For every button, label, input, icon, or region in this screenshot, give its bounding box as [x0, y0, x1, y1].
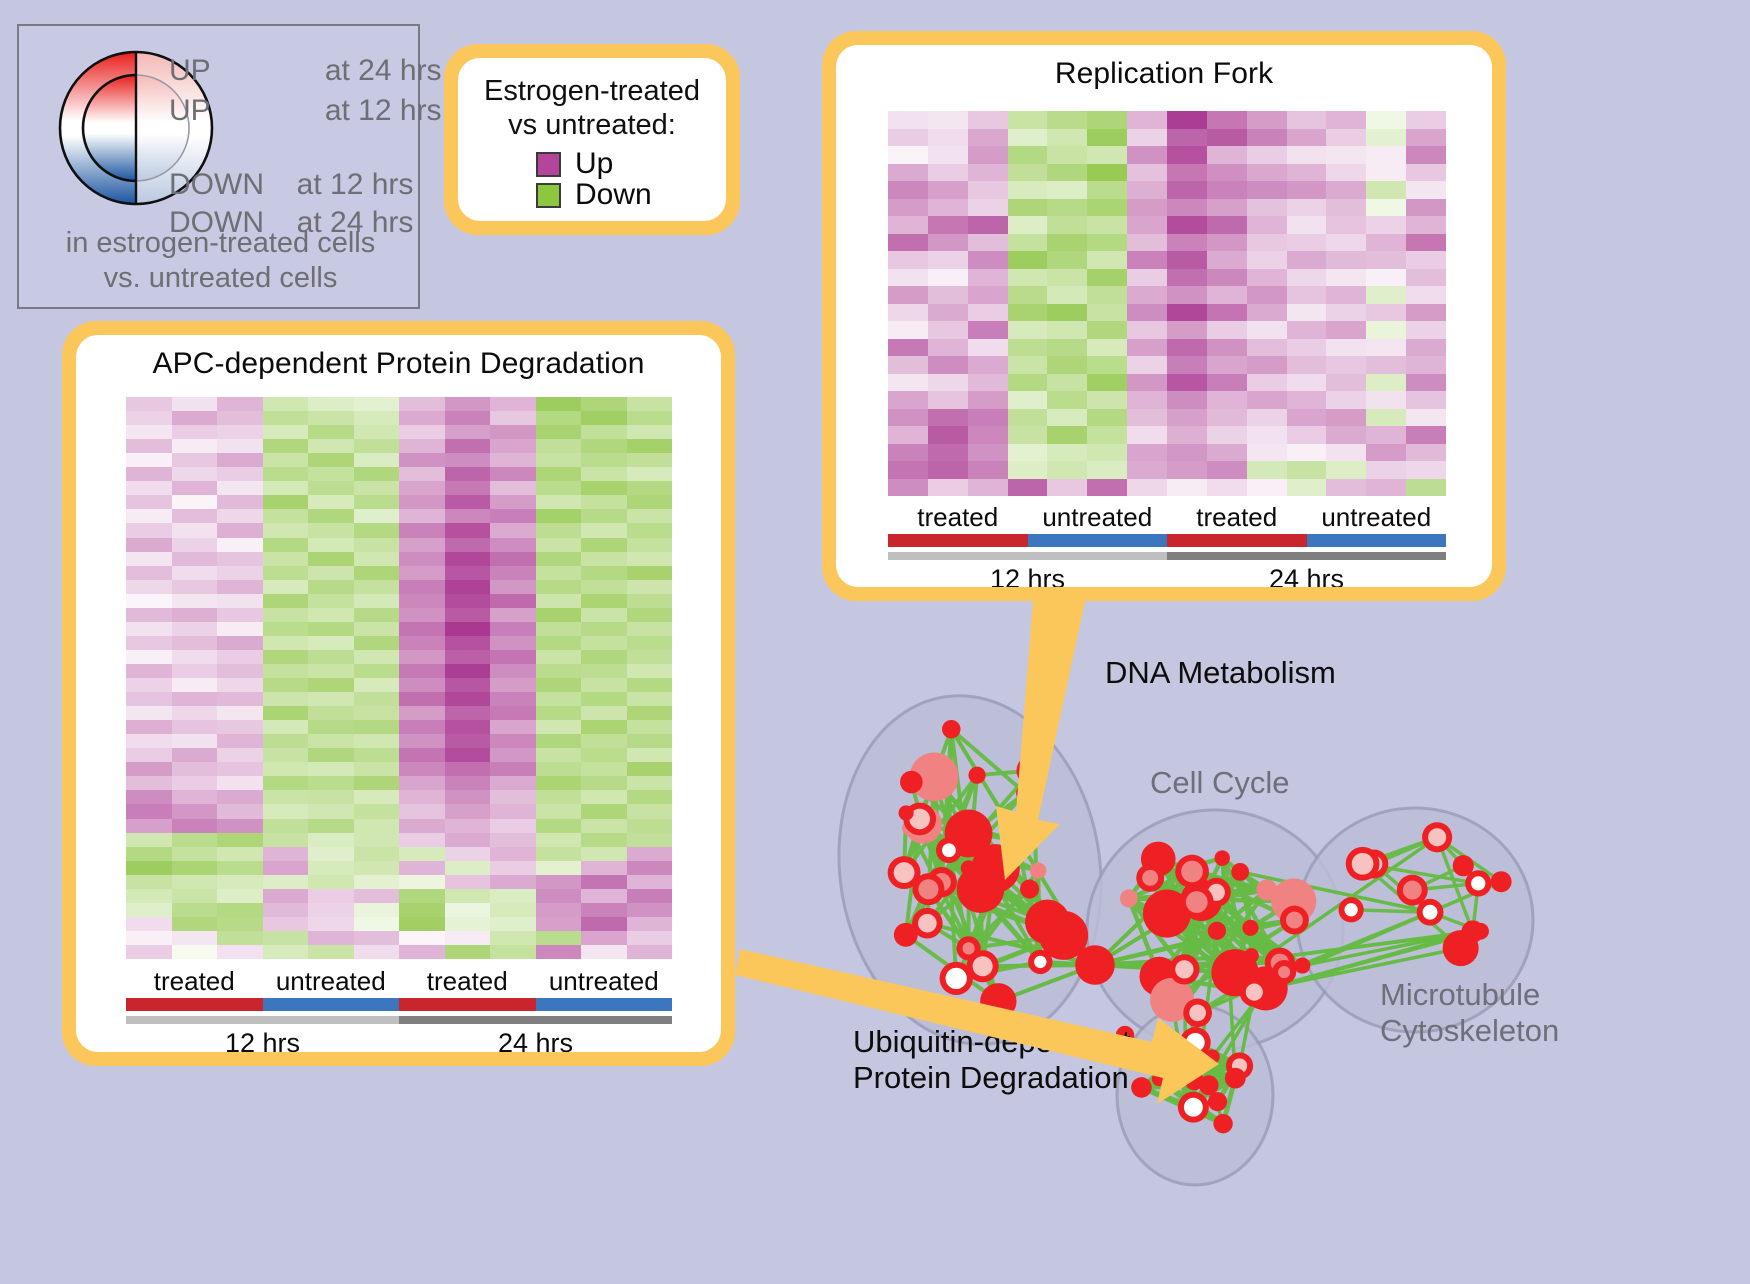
heatmap-cell [445, 566, 491, 580]
heatmap-cell [354, 397, 400, 411]
heatmap-cell [490, 889, 536, 903]
heatmap-cell [1008, 199, 1048, 217]
heatmap-cell [1167, 426, 1207, 444]
heatmap-cell [1406, 304, 1446, 322]
heatmap-cell [627, 481, 673, 495]
heatmap-cell [928, 164, 968, 182]
heatmap-cell [928, 426, 968, 444]
heatmap-cell [445, 538, 491, 552]
heatmap-cell [1008, 251, 1048, 269]
network-node-core [1278, 966, 1290, 978]
heatmap-cell [1008, 321, 1048, 339]
heatmap-cell [1287, 479, 1327, 497]
heatmap-cell [445, 411, 491, 425]
heatmap-cell [581, 594, 627, 608]
heatmap-cell [172, 397, 218, 411]
heatmap-cell [536, 481, 582, 495]
network-node [894, 923, 918, 947]
heatmap-cell [308, 580, 354, 594]
heatmap-cell [581, 889, 627, 903]
heatmap-cell [1207, 181, 1247, 199]
heatmap-cell [1087, 409, 1127, 427]
heatmap-cell [928, 251, 968, 269]
network-node [1131, 1077, 1152, 1098]
heatmap-cell [1207, 164, 1247, 182]
heatmap-cell [1366, 216, 1406, 234]
heatmap-cell [1087, 356, 1127, 374]
timepoint-label: 12 hrs [888, 564, 1167, 587]
network-node [1020, 880, 1039, 899]
heatmap-cell [126, 776, 172, 790]
heatmap-cell [1406, 146, 1446, 164]
heatmap-cell [581, 804, 627, 818]
heatmap-cell [1008, 129, 1048, 147]
heatmap-cell [399, 636, 445, 650]
heatmap-cell [217, 833, 263, 847]
heatmap-cell [354, 804, 400, 818]
heatmap-cell [126, 833, 172, 847]
heatmap-cell [263, 608, 309, 622]
heatmap-cell [1127, 234, 1167, 252]
heatmap-cell [627, 678, 673, 692]
heatmap-cell [1247, 129, 1287, 147]
heatmap-cell [536, 411, 582, 425]
wheel-caption-line-1: in estrogen-treated cells [19, 226, 422, 261]
heatmap-cell [172, 861, 218, 875]
heatmap-cell [888, 129, 928, 147]
heatmap-cell [1287, 391, 1327, 409]
heatmap-cell [172, 790, 218, 804]
heatmap-cell [928, 409, 968, 427]
heatmap-cell [263, 650, 309, 664]
group-label: untreated [536, 967, 673, 996]
heatmap-cell [217, 566, 263, 580]
pathway-network-diagram: DNA Metabolism Cell Cycle Microtubule Cy… [795, 615, 1750, 1279]
heatmap-cell [126, 889, 172, 903]
heatmap-cell [1207, 286, 1247, 304]
group-label: untreated [1307, 503, 1447, 532]
heatmap-cell [308, 467, 354, 481]
heatmap-cell [126, 481, 172, 495]
heatmap-cell [354, 847, 400, 861]
down-colour-swatch [536, 183, 561, 208]
heatmap-cell [399, 453, 445, 467]
heatmap-cell [354, 833, 400, 847]
heatmap-cell [126, 945, 172, 959]
heatmap-cell [627, 453, 673, 467]
wheel-time-2: at 12 hrs [297, 168, 414, 201]
heatmap-cell [172, 650, 218, 664]
heatmap-cell [888, 146, 928, 164]
heatmap-cell [490, 678, 536, 692]
heatmap-cell [217, 804, 263, 818]
heatmap-cell [263, 790, 309, 804]
heatmap-cell [1047, 164, 1087, 182]
network-node-core [1034, 956, 1046, 968]
heatmap-cell [1247, 111, 1287, 129]
wheel-caption-line-2: vs. untreated cells [19, 261, 422, 296]
heatmap-cell [888, 234, 928, 252]
heatmap-cell [1167, 409, 1207, 427]
network-node [899, 805, 914, 820]
heatmap-cell [217, 481, 263, 495]
heatmap-cell [445, 819, 491, 833]
heatmap-cell [1287, 444, 1327, 462]
heatmap-cell [1287, 269, 1327, 287]
heatmap-cell [1287, 129, 1327, 147]
heatmap-cell [308, 875, 354, 889]
heatmap-cell [1287, 304, 1327, 322]
heatmap-cell [1167, 111, 1207, 129]
heatmap-cell [445, 439, 491, 453]
heatmap-cell [1087, 444, 1127, 462]
heatmap-cell [445, 397, 491, 411]
heatmap-cell [627, 776, 673, 790]
heatmap-cell [126, 819, 172, 833]
heatmap-cell [172, 903, 218, 917]
heatmap-cell [627, 594, 673, 608]
heatmap-cell [399, 889, 445, 903]
heatmap-cell [581, 495, 627, 509]
heatmap-cell [1406, 356, 1446, 374]
apc-degradation-title: APC-dependent Protein Degradation [76, 335, 721, 381]
heatmap-cell [490, 397, 536, 411]
heatmap-cell [354, 636, 400, 650]
heatmap-cell [536, 453, 582, 467]
heatmap-cell [536, 425, 582, 439]
heatmap-cell [1287, 181, 1327, 199]
heatmap-cell [928, 111, 968, 129]
heatmap-cell [968, 129, 1008, 147]
heatmap-cell [263, 495, 309, 509]
replication-fork-time-labels: 12 hrs24 hrs [888, 564, 1446, 587]
heatmap-cell [1326, 164, 1366, 182]
group-colour-bar [399, 998, 536, 1011]
heatmap-cell [536, 650, 582, 664]
heatmap-cell [354, 903, 400, 917]
heatmap-cell [1366, 181, 1406, 199]
cluster-label-microtubule-cytoskeleton: Microtubule Cytoskeleton [1380, 977, 1559, 1050]
figure-canvas: UP at 24 hrs UP at 12 hrs DOWN at 12 hrs… [0, 0, 1750, 1279]
heatmap-cell [1207, 374, 1247, 392]
heatmap-cell [1087, 321, 1127, 339]
heatmap-cell [172, 945, 218, 959]
heatmap-cell [172, 411, 218, 425]
heatmap-cell [217, 734, 263, 748]
network-node [1242, 920, 1258, 936]
heatmap-cell [172, 931, 218, 945]
heatmap-cell [217, 903, 263, 917]
heatmap-cell [217, 425, 263, 439]
heatmap-cell [217, 931, 263, 945]
heatmap-cell [263, 580, 309, 594]
heatmap-cell [172, 664, 218, 678]
heatmap-cell [172, 552, 218, 566]
heatmap-cell [217, 678, 263, 692]
cluster-label-cell-cycle: Cell Cycle [1150, 765, 1290, 801]
heatmap-cell [1008, 374, 1048, 392]
heatmap-cell [354, 523, 400, 537]
heatmap-cell [217, 945, 263, 959]
heatmap-cell [308, 692, 354, 706]
heatmap-cell [308, 552, 354, 566]
heatmap-cell [627, 706, 673, 720]
heatmap-cell [968, 426, 1008, 444]
heatmap-cell [263, 917, 309, 931]
heatmap-cell [1366, 164, 1406, 182]
heatmap-cell [1167, 234, 1207, 252]
heatmap-cell [536, 903, 582, 917]
heatmap-cell [1207, 479, 1247, 497]
heatmap-cell [354, 509, 400, 523]
heatmap-cell [1287, 199, 1327, 217]
heatmap-cell [1406, 129, 1446, 147]
legend-item-down: Down [536, 180, 726, 210]
network-node [1152, 1071, 1167, 1086]
heatmap-cell [490, 453, 536, 467]
network-node-core [942, 843, 956, 857]
heatmap-cell [627, 833, 673, 847]
heatmap-cell [490, 819, 536, 833]
heatmap-cell [126, 425, 172, 439]
heatmap-cell [399, 678, 445, 692]
up-down-colour-legend-panel: Estrogen-treated vs untreated: Up Down [444, 44, 740, 235]
heatmap-cell [354, 720, 400, 734]
heatmap-cell [627, 538, 673, 552]
heatmap-cell [308, 523, 354, 537]
heatmap-cell [490, 776, 536, 790]
heatmap-cell [445, 453, 491, 467]
heatmap-cell [1087, 339, 1127, 357]
heatmap-cell [172, 748, 218, 762]
heatmap-cell [888, 304, 928, 322]
heatmap-cell [1406, 339, 1446, 357]
heatmap-cell [1366, 444, 1406, 462]
heatmap-cell [354, 734, 400, 748]
heatmap-cell [308, 748, 354, 762]
heatmap-cell [1127, 321, 1167, 339]
heatmap-cell [354, 889, 400, 903]
heatmap-cell [1008, 479, 1048, 497]
heatmap-cell [308, 509, 354, 523]
heatmap-cell [536, 622, 582, 636]
group-colour-bar [888, 534, 1028, 547]
heatmap-cell [888, 216, 928, 234]
cluster-label-dna-metabolism: DNA Metabolism [1105, 655, 1336, 691]
heatmap-cell [354, 608, 400, 622]
heatmap-cell [1127, 251, 1167, 269]
heatmap-cell [1247, 461, 1287, 479]
heatmap-cell [1047, 391, 1087, 409]
replication-fork-group-labels: treateduntreatedtreateduntreated [888, 503, 1446, 532]
heatmap-cell [1127, 356, 1167, 374]
heatmap-cell [172, 804, 218, 818]
heatmap-cell [968, 356, 1008, 374]
heatmap-cell [1087, 129, 1127, 147]
heatmap-cell [1167, 304, 1207, 322]
heatmap-cell [1287, 339, 1327, 357]
heatmap-cell [581, 453, 627, 467]
heatmap-cell [263, 833, 309, 847]
network-node [1208, 922, 1226, 940]
heatmap-cell [627, 467, 673, 481]
heatmap-cell [627, 804, 673, 818]
heatmap-cell [308, 903, 354, 917]
heatmap-cell [217, 453, 263, 467]
heatmap-cell [581, 608, 627, 622]
heatmap-cell [888, 111, 928, 129]
wheel-state-0: UP [169, 54, 210, 87]
heatmap-cell [399, 608, 445, 622]
heatmap-cell [217, 636, 263, 650]
heatmap-cell [445, 664, 491, 678]
heatmap-cell [217, 650, 263, 664]
heatmap-cell [1287, 234, 1327, 252]
heatmap-cell [581, 509, 627, 523]
heatmap-cell [217, 790, 263, 804]
heatmap-cell [445, 706, 491, 720]
heatmap-cell [263, 425, 309, 439]
heatmap-cell [536, 833, 582, 847]
heatmap-cell [1247, 286, 1287, 304]
heatmap-cell [1406, 444, 1446, 462]
heatmap-cell [1247, 234, 1287, 252]
heatmap-cell [126, 875, 172, 889]
heatmap-cell [888, 426, 928, 444]
heatmap-cell [126, 397, 172, 411]
network-node [961, 860, 977, 876]
heatmap-cell [627, 692, 673, 706]
heatmap-cell [1287, 251, 1327, 269]
heatmap-cell [1247, 269, 1287, 287]
heatmap-cell [263, 552, 309, 566]
heatmap-cell [888, 321, 928, 339]
heatmap-cell [627, 931, 673, 945]
heatmap-cell [399, 481, 445, 495]
heatmap-cell [490, 411, 536, 425]
heatmap-cell [1167, 479, 1207, 497]
heatmap-cell [399, 720, 445, 734]
heatmap-cell [354, 931, 400, 945]
heatmap-cell [445, 804, 491, 818]
heatmap-cell [126, 636, 172, 650]
heatmap-cell [263, 509, 309, 523]
heatmap-cell [126, 692, 172, 706]
heatmap-cell [536, 692, 582, 706]
heatmap-cell [581, 523, 627, 537]
heatmap-cell [1326, 479, 1366, 497]
heatmap-cell [1087, 234, 1127, 252]
network-node-core [1189, 1004, 1206, 1021]
heatmap-cell [1167, 461, 1207, 479]
heatmap-cell [172, 467, 218, 481]
up-label: Up [575, 149, 613, 179]
heatmap-cell [1167, 164, 1207, 182]
heatmap-cell [126, 622, 172, 636]
heatmap-cell [354, 411, 400, 425]
heatmap-cell [1366, 251, 1406, 269]
heatmap-cell [126, 411, 172, 425]
heatmap-cell [1207, 129, 1247, 147]
heatmap-cell [308, 804, 354, 818]
heatmap-cell [888, 409, 928, 427]
heatmap-cell [263, 538, 309, 552]
heatmap-cell [126, 931, 172, 945]
heatmap-cell [263, 678, 309, 692]
heatmap-cell [928, 234, 968, 252]
heatmap-cell [172, 425, 218, 439]
heatmap-cell [968, 269, 1008, 287]
heatmap-cell [308, 636, 354, 650]
heatmap-cell [217, 875, 263, 889]
heatmap-cell [627, 945, 673, 959]
down-label: Down [575, 180, 652, 210]
heatmap-cell [399, 804, 445, 818]
heatmap-cell [263, 397, 309, 411]
heatmap-cell [1287, 461, 1327, 479]
heatmap-cell [490, 552, 536, 566]
heatmap-cell [536, 734, 582, 748]
heatmap-cell [581, 734, 627, 748]
group-label: untreated [1028, 503, 1168, 532]
heatmap-cell [445, 847, 491, 861]
replication-fork-title: Replication Fork [836, 45, 1492, 91]
heatmap-cell [1127, 199, 1167, 217]
heatmap-cell [217, 509, 263, 523]
heatmap-cell [1247, 304, 1287, 322]
heatmap-cell [308, 594, 354, 608]
heatmap-cell [968, 181, 1008, 199]
heatmap-cell [627, 523, 673, 537]
heatmap-cell [1008, 181, 1048, 199]
heatmap-cell [1087, 146, 1127, 164]
heatmap-cell [172, 720, 218, 734]
heatmap-cell [399, 411, 445, 425]
heatmap-cell [490, 945, 536, 959]
heatmap-cell [1167, 356, 1207, 374]
heatmap-cell [308, 664, 354, 678]
apc-time-bars [126, 1016, 672, 1024]
heatmap-cell [445, 734, 491, 748]
network-node-core [1286, 912, 1303, 929]
heatmap-cell [445, 762, 491, 776]
heatmap-cell [1047, 339, 1087, 357]
network-node-core [1403, 881, 1422, 900]
heatmap-cell [399, 734, 445, 748]
heatmap-cell [536, 889, 582, 903]
heatmap-cell [928, 146, 968, 164]
heatmap-cell [581, 762, 627, 776]
heatmap-cell [490, 495, 536, 509]
network-node-core [962, 942, 974, 954]
heatmap-cell [1087, 374, 1127, 392]
heatmap-cell [536, 509, 582, 523]
heatmap-cell [1366, 409, 1406, 427]
heatmap-cell [1406, 199, 1446, 217]
heatmap-cell [581, 650, 627, 664]
heatmap-cell [490, 833, 536, 847]
heatmap-cell [888, 286, 928, 304]
heatmap-cell [1247, 391, 1287, 409]
heatmap-cell [399, 875, 445, 889]
network-node-core [1344, 903, 1357, 916]
heatmap-cell [1326, 461, 1366, 479]
heatmap-cell [1366, 111, 1406, 129]
heatmap-cell [968, 199, 1008, 217]
heatmap-cell [1047, 286, 1087, 304]
heatmap-cell [888, 339, 928, 357]
heatmap-cell [354, 439, 400, 453]
